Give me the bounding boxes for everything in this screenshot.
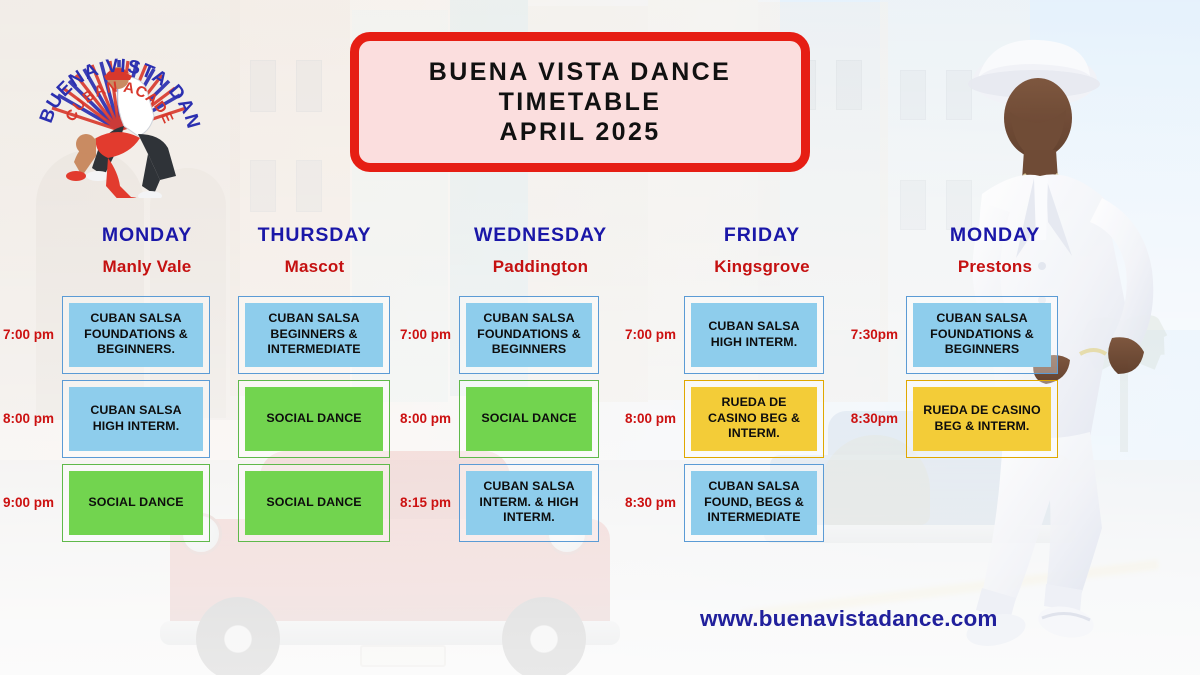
class-label: SOCIAL DANCE: [466, 387, 592, 451]
slot-time: 8:30pm: [844, 411, 906, 426]
class-slot[interactable]: 7:00 pm CUBAN SALSA BEGINNERS & INTERMED…: [232, 293, 397, 377]
class-slot[interactable]: 8:00 pm SOCIAL DANCE: [232, 377, 397, 461]
slot-time: 8:00 pm: [397, 411, 459, 426]
timetable-column-wednesday-paddington: WEDNESDAY Paddington 7:00 pm CUBAN SALSA…: [397, 226, 622, 545]
class-cell[interactable]: CUBAN SALSA BEGINNERS & INTERMEDIATE: [238, 296, 390, 374]
slot-time: 8:00 pm: [622, 411, 684, 426]
class-cell[interactable]: RUEDA DE CASINO BEG & INTERM.: [906, 380, 1058, 458]
class-slot-list: 7:00 pm CUBAN SALSA FOUNDATIONS & BEGINN…: [397, 293, 622, 545]
class-slot-list: 7:30pm CUBAN SALSA FOUNDATIONS & BEGINNE…: [844, 293, 1080, 461]
class-slot-list: 7:00 pm CUBAN SALSA FOUNDATIONS & BEGINN…: [0, 293, 232, 545]
day-label: FRIDAY: [680, 226, 844, 246]
timetable-column-thursday-mascot: THURSDAY Mascot 7:00 pm CUBAN SALSA BEGI…: [232, 226, 397, 545]
class-cell[interactable]: SOCIAL DANCE: [238, 380, 390, 458]
class-label: CUBAN SALSA FOUNDATIONS & BEGINNERS: [913, 303, 1051, 367]
class-label: SOCIAL DANCE: [69, 471, 203, 535]
slot-time: 8:30 pm: [622, 495, 684, 510]
class-cell[interactable]: SOCIAL DANCE: [62, 464, 210, 542]
title-line-1: BUENA VISTA DANCE: [429, 58, 731, 86]
timetable-column-monday-manly-vale: MONDAY Manly Vale 7:00 pm CUBAN SALSA FO…: [0, 226, 232, 545]
slot-time: 8:00 pm: [0, 411, 62, 426]
slot-time: 8:15 pm: [397, 495, 459, 510]
class-cell[interactable]: CUBAN SALSA FOUNDATIONS & BEGINNERS: [906, 296, 1058, 374]
class-cell[interactable]: RUEDA DE CASINO BEG & INTERM.: [684, 380, 824, 458]
class-slot[interactable]: 8:00 pm SOCIAL DANCE: [397, 377, 622, 461]
class-slot[interactable]: 7:00 pm CUBAN SALSA FOUNDATIONS & BEGINN…: [0, 293, 232, 377]
slot-time: 7:00 pm: [622, 327, 684, 342]
column-header: WEDNESDAY Paddington: [397, 226, 622, 275]
class-slot[interactable]: 9:00 pm SOCIAL DANCE: [232, 461, 397, 545]
class-label: CUBAN SALSA INTERM. & HIGH INTERM.: [466, 471, 592, 535]
class-cell[interactable]: SOCIAL DANCE: [238, 464, 390, 542]
day-label: THURSDAY: [232, 226, 397, 246]
venue-label: Manly Vale: [62, 258, 232, 275]
venue-label: Prestons: [910, 258, 1080, 275]
class-slot[interactable]: 8:15 pm CUBAN SALSA INTERM. & HIGH INTER…: [397, 461, 622, 545]
class-label: RUEDA DE CASINO BEG & INTERM.: [691, 387, 817, 451]
website-url[interactable]: www.buenavistadance.com: [700, 606, 998, 632]
class-label: CUBAN SALSA BEGINNERS & INTERMEDIATE: [245, 303, 383, 367]
class-slot[interactable]: 8:00 pm CUBAN SALSA HIGH INTERM.: [0, 377, 232, 461]
timetable-column-monday-prestons: MONDAY Prestons 7:30pm CUBAN SALSA FOUND…: [844, 226, 1080, 461]
timetable-poster: BUENA VISTA DANCE CUBAN ACADEMY BUENA VI…: [0, 0, 1200, 675]
class-label: SOCIAL DANCE: [245, 471, 383, 535]
class-slot-list: 7:00 pm CUBAN SALSA BEGINNERS & INTERMED…: [232, 293, 397, 545]
title-banner: BUENA VISTA DANCE TIMETABLE APRIL 2025: [350, 32, 810, 172]
class-label: CUBAN SALSA FOUNDATIONS & BEGINNERS: [466, 303, 592, 367]
class-slot[interactable]: 7:30pm CUBAN SALSA FOUNDATIONS & BEGINNE…: [844, 293, 1080, 377]
class-cell[interactable]: CUBAN SALSA FOUND, BEGS & INTERMEDIATE: [684, 464, 824, 542]
class-cell[interactable]: CUBAN SALSA FOUNDATIONS & BEGINNERS: [459, 296, 599, 374]
slot-time: 9:00 pm: [0, 495, 62, 510]
class-cell[interactable]: CUBAN SALSA HIGH INTERM.: [684, 296, 824, 374]
column-header: THURSDAY Mascot: [232, 226, 397, 275]
class-slot[interactable]: 7:00 pm CUBAN SALSA FOUNDATIONS & BEGINN…: [397, 293, 622, 377]
column-header: MONDAY Prestons: [844, 226, 1080, 275]
venue-label: Paddington: [459, 258, 622, 275]
venue-label: Kingsgrove: [680, 258, 844, 275]
class-label: RUEDA DE CASINO BEG & INTERM.: [913, 387, 1051, 451]
day-label: MONDAY: [62, 226, 232, 246]
class-label: CUBAN SALSA HIGH INTERM.: [69, 387, 203, 451]
class-cell[interactable]: CUBAN SALSA INTERM. & HIGH INTERM.: [459, 464, 599, 542]
slot-time: 7:00 pm: [397, 327, 459, 342]
class-label: CUBAN SALSA HIGH INTERM.: [691, 303, 817, 367]
column-header: FRIDAY Kingsgrove: [622, 226, 844, 275]
class-cell[interactable]: CUBAN SALSA HIGH INTERM.: [62, 380, 210, 458]
day-label: MONDAY: [910, 226, 1080, 246]
title-line-3: APRIL 2025: [499, 118, 660, 146]
class-slot[interactable]: 9:00 pm SOCIAL DANCE: [0, 461, 232, 545]
class-slot[interactable]: 8:30pm RUEDA DE CASINO BEG & INTERM.: [844, 377, 1080, 461]
slot-time: 7:30pm: [844, 327, 906, 342]
slot-time: 7:00 pm: [0, 327, 62, 342]
day-label: WEDNESDAY: [459, 226, 622, 246]
timetable-grid: MONDAY Manly Vale 7:00 pm CUBAN SALSA FO…: [0, 226, 1080, 556]
timetable-column-friday-kingsgrove: FRIDAY Kingsgrove 7:00 pm CUBAN SALSA HI…: [622, 226, 844, 545]
class-cell[interactable]: SOCIAL DANCE: [459, 380, 599, 458]
class-slot-list: 7:00 pm CUBAN SALSA HIGH INTERM. 8:00 pm…: [622, 293, 844, 545]
class-cell[interactable]: CUBAN SALSA FOUNDATIONS & BEGINNERS.: [62, 296, 210, 374]
class-slot[interactable]: 7:00 pm CUBAN SALSA HIGH INTERM.: [622, 293, 844, 377]
class-slot[interactable]: 8:30 pm CUBAN SALSA FOUND, BEGS & INTERM…: [622, 461, 844, 545]
class-label: CUBAN SALSA FOUND, BEGS & INTERMEDIATE: [691, 471, 817, 535]
buena-vista-dance-logo: BUENA VISTA DANCE CUBAN ACADEMY: [34, 26, 204, 198]
class-label: CUBAN SALSA FOUNDATIONS & BEGINNERS.: [69, 303, 203, 367]
class-label: SOCIAL DANCE: [245, 387, 383, 451]
venue-label: Mascot: [232, 258, 397, 275]
class-slot[interactable]: 8:00 pm RUEDA DE CASINO BEG & INTERM.: [622, 377, 844, 461]
title-line-2: TIMETABLE: [499, 88, 662, 116]
column-header: MONDAY Manly Vale: [0, 226, 232, 275]
